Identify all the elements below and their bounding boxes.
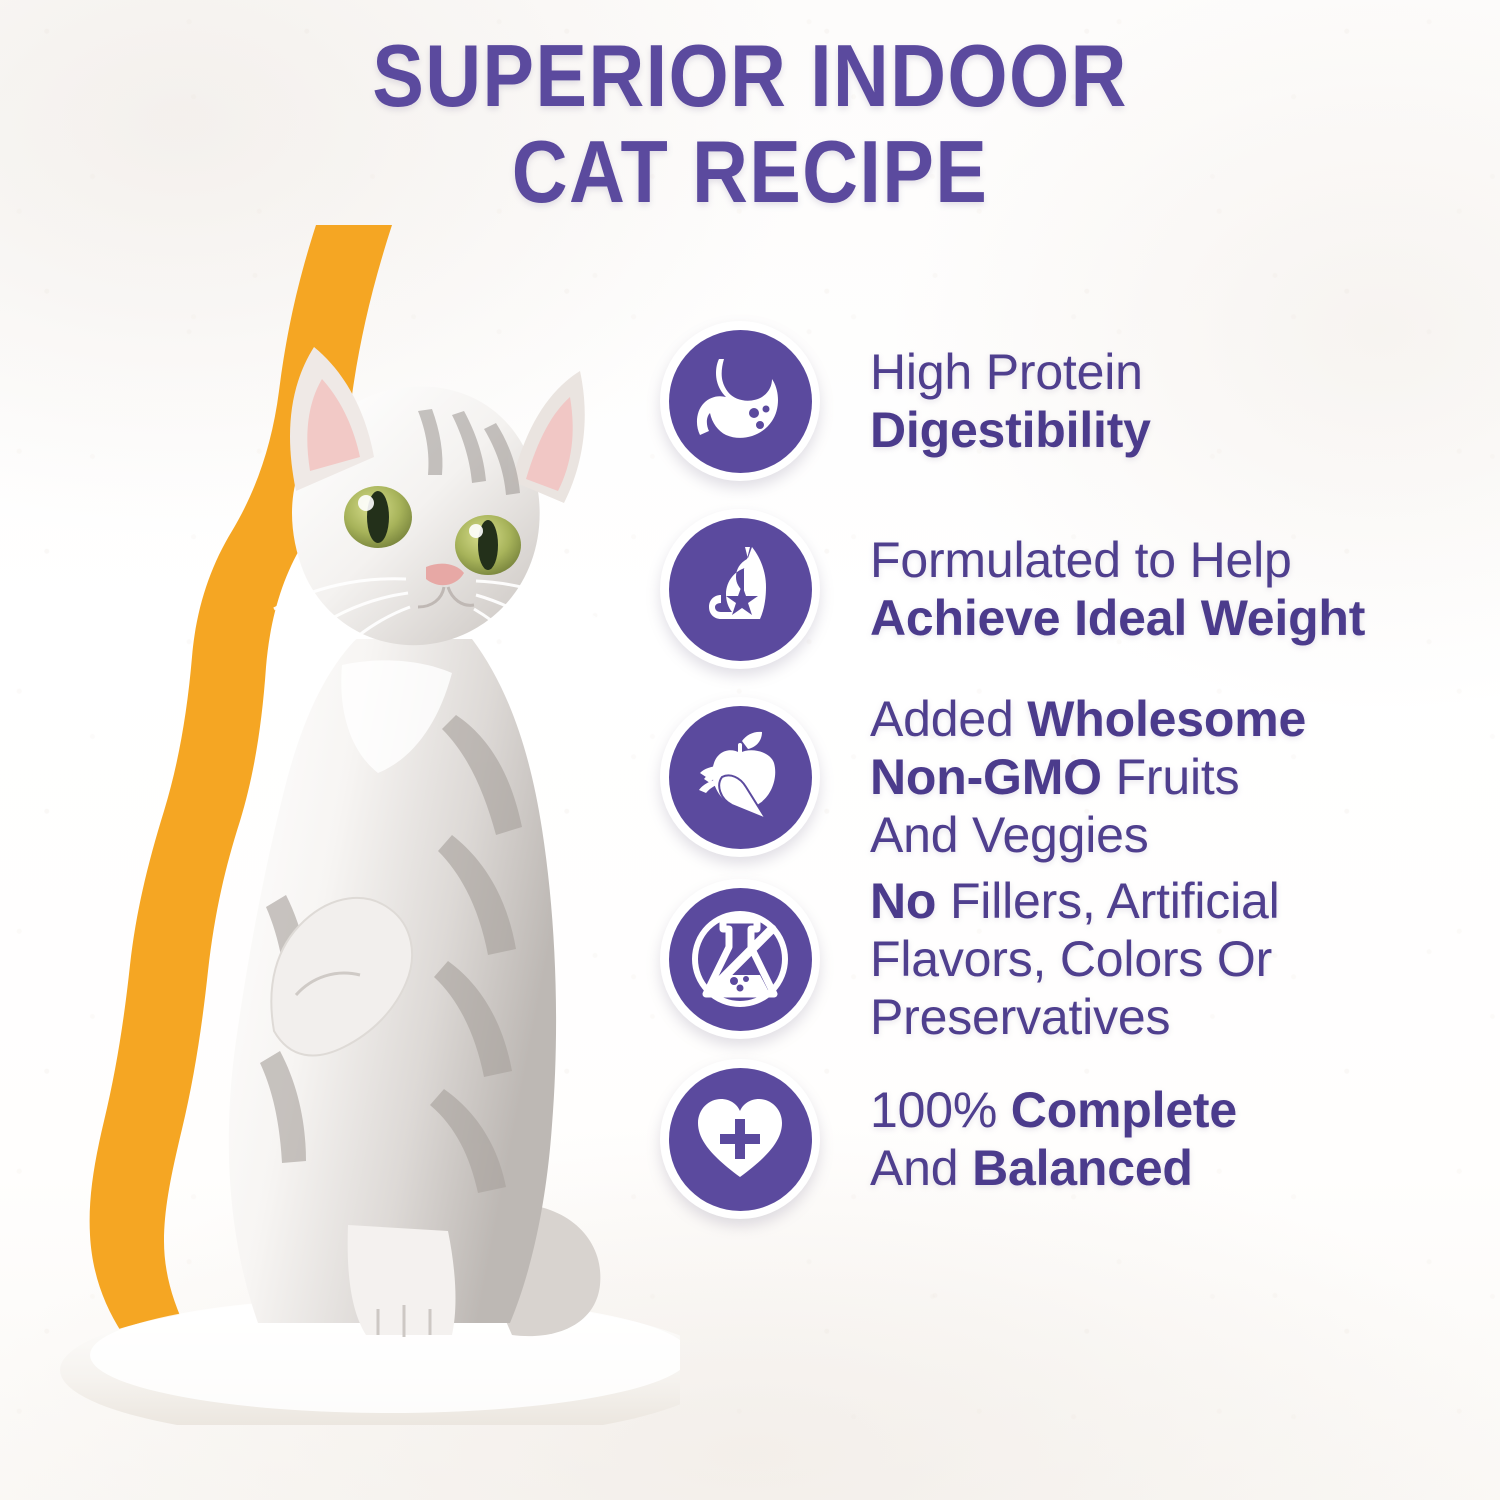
title-line-1: SUPERIOR INDOOR [90,28,1410,124]
title-line-2: CAT RECIPE [90,124,1410,220]
feature-icon-badge [660,1059,820,1219]
no-flask-icon [669,888,812,1031]
feature-icon-badge [660,879,820,1039]
page-title: SUPERIOR INDOOR CAT RECIPE [0,28,1500,220]
feature-line-bold: Complete [1011,1082,1237,1138]
feature-icon-badge [660,697,820,857]
feature-line: Formulated to Help [870,532,1292,588]
cat-photo [60,195,680,1425]
feature-line: Added [870,691,1027,747]
feature-row: Added Wholesome Non-GMO Fruits And Veggi… [660,690,1480,864]
heart-plus-glyph [690,1089,790,1189]
feature-line: And [870,1140,972,1196]
feature-row: No Fillers, Artificial Flavors, Colors O… [660,872,1480,1046]
cat-illustration [60,195,680,1425]
heart-plus-icon [669,1068,812,1211]
feature-row: Formulated to Help Achieve Ideal Weight [660,504,1480,674]
feature-row: High Protein Digestibility [660,316,1480,486]
feature-icon-badge [660,321,820,481]
feature-line-bold: Digestibility [870,402,1151,458]
feature-line: High Protein [870,344,1143,400]
feature-line-bold: Balanced [972,1140,1193,1196]
cat-eye-highlight-left [358,495,374,511]
apple-carrot-glyph [690,727,790,827]
feature-text: Formulated to Help Achieve Ideal Weight [870,531,1365,647]
feature-line: Fillers, Artificial [936,873,1279,929]
cat-eye-highlight-right [469,524,483,538]
product-infographic: SUPERIOR INDOOR CAT RECIPE [0,0,1500,1500]
feature-text: No Fillers, Artificial Flavors, Colors O… [870,872,1280,1046]
feature-line: 100% [870,1082,1011,1138]
feature-row: 100% Complete And Balanced [660,1054,1480,1224]
feature-list: High Protein Digestibility Formulated to… [660,316,1480,1224]
feature-line: Preservatives [870,989,1170,1045]
stomach-icon [669,330,812,473]
stomach-glyph [690,351,790,451]
feature-line-bold: Wholesome [1027,691,1306,747]
cat-star-icon [669,518,812,661]
cat-front-paw [348,1225,456,1335]
feature-text: Added Wholesome Non-GMO Fruits And Veggi… [870,690,1306,864]
apple-carrot-icon [669,706,812,849]
feature-line: Fruits [1102,749,1240,805]
feature-icon-badge [660,509,820,669]
feature-line: And Veggies [870,807,1149,863]
feature-line-bold: Non-GMO [870,749,1102,805]
feature-text: 100% Complete And Balanced [870,1081,1237,1197]
feature-text: High Protein Digestibility [870,343,1151,459]
no-flask-glyph [690,909,790,1009]
feature-line-bold: Achieve Ideal Weight [870,590,1365,646]
feature-line: Flavors, Colors Or [870,931,1272,987]
cat-star-glyph [690,539,790,639]
feature-line-bold: No [870,873,936,929]
